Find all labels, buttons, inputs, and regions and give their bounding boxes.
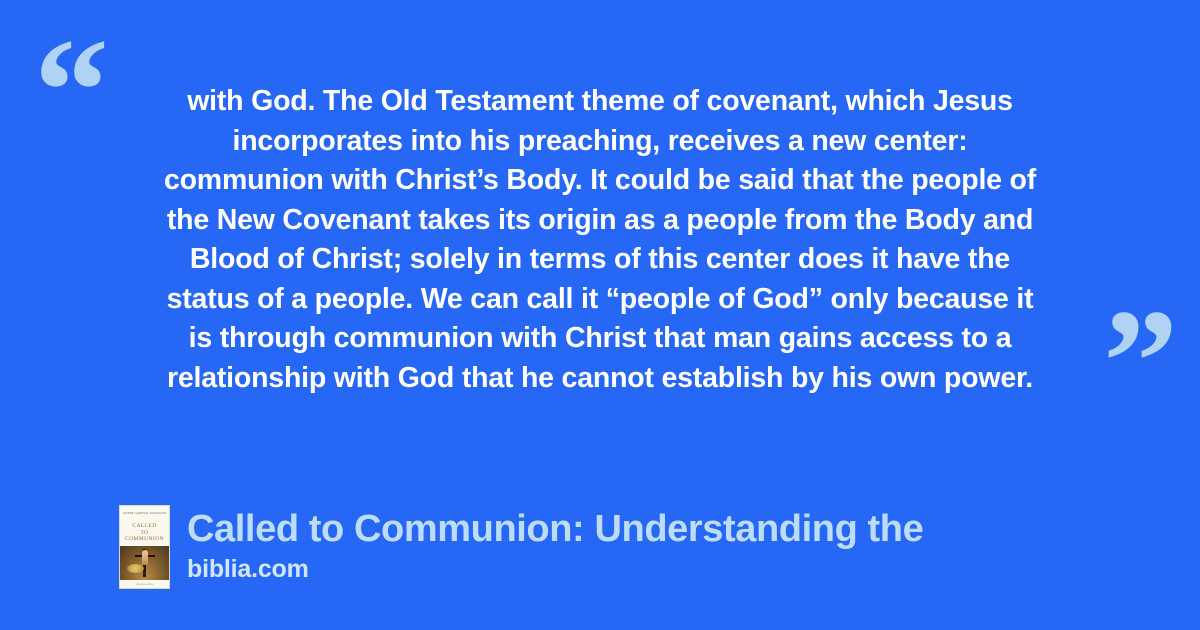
close-quote-icon: ” xyxy=(1103,287,1178,437)
cover-author: JOSEPH CARDINAL RATZINGER xyxy=(120,512,169,516)
source-attribution: JOSEPH CARDINAL RATZINGER CALLED TO COMM… xyxy=(119,505,923,589)
quote-line: status of a people. We can call it “peop… xyxy=(110,280,1090,320)
quote-line: relationship with God that he cannot est… xyxy=(110,359,1090,399)
quote-line: with God. The Old Testament theme of cov… xyxy=(110,82,1090,122)
quote-line: the New Covenant takes its origin as a p… xyxy=(110,201,1090,241)
christ-figure-icon xyxy=(142,550,148,565)
cover-title: CALLED TO COMMUNION xyxy=(120,523,169,543)
award-seal-icon xyxy=(127,564,144,573)
quote-line: communion with Christ’s Body. It could b… xyxy=(110,161,1090,201)
quote-line: Blood of Christ; solely in terms of this… xyxy=(110,240,1090,280)
quote-line: is through communion with Christ that ma… xyxy=(110,319,1090,359)
site-name: biblia.com xyxy=(187,554,923,585)
book-title: Called to Communion: Understanding the xyxy=(187,506,923,552)
quote-text: with God. The Old Testament theme of cov… xyxy=(110,82,1090,398)
cover-title-line: COMMUNION xyxy=(120,536,169,543)
book-cover-thumbnail: JOSEPH CARDINAL RATZINGER CALLED TO COMM… xyxy=(119,505,170,589)
source-text: Called to Communion: Understanding the b… xyxy=(187,505,923,585)
cover-publisher: IGNATIUS PRESS xyxy=(120,584,169,586)
quote-line: incorporates into his preaching, receive… xyxy=(110,122,1090,162)
cover-subtitle: UNDERSTANDING THE CHURCH TODAY xyxy=(120,572,169,579)
quote-card: “ ” with God. The Old Testament theme of… xyxy=(0,0,1200,630)
open-quote-icon: “ xyxy=(34,16,109,166)
